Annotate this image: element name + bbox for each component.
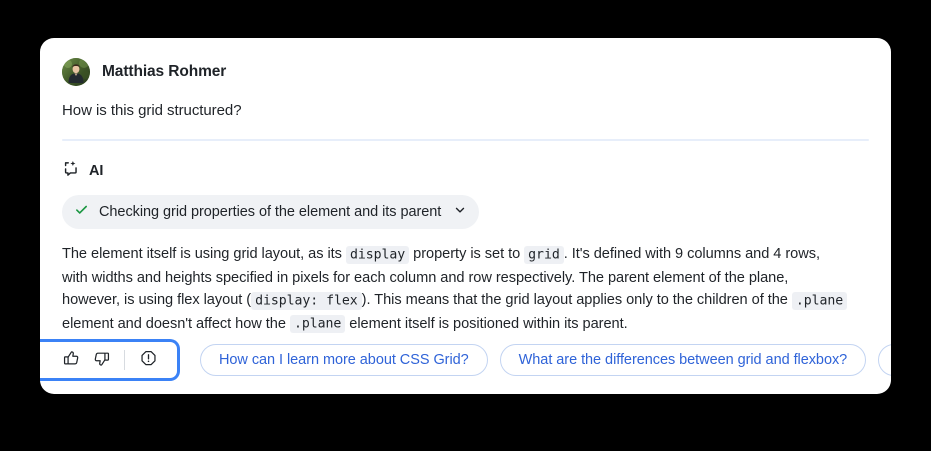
- ai-answer-text: The element itself is using grid layout,…: [40, 229, 870, 336]
- ai-sparkle-icon: [62, 159, 80, 182]
- feedback-divider: [124, 350, 125, 370]
- suggestion-pill-2[interactable]: What are the differences between grid an…: [500, 344, 867, 376]
- answer-segment: property is set to: [409, 246, 524, 262]
- message-action-bar: How can I learn more about CSS Grid? Wha…: [40, 326, 891, 394]
- user-message-header: Matthias Rohmer: [40, 38, 891, 86]
- inline-code-grid: grid: [524, 246, 564, 264]
- inline-code-plane-1: .plane: [792, 292, 847, 310]
- inline-code-display-flex: display: flex: [251, 292, 362, 310]
- chevron-down-icon[interactable]: [453, 203, 467, 222]
- report-button[interactable]: [133, 345, 163, 375]
- user-name: Matthias Rohmer: [102, 63, 226, 81]
- inline-code-display: display: [346, 246, 409, 264]
- status-chip-label: Checking grid properties of the element …: [99, 204, 441, 220]
- suggestion-pill-list: How can I learn more about CSS Grid? Wha…: [200, 344, 891, 376]
- chat-card: Matthias Rohmer How is this grid structu…: [40, 38, 891, 394]
- report-alert-icon: [139, 349, 158, 371]
- thumbs-up-button[interactable]: [56, 345, 86, 375]
- feedback-button-group[interactable]: [40, 339, 180, 381]
- user-question-text: How is this grid structured?: [40, 86, 891, 119]
- answer-segment: ). This means that the grid layout appli…: [362, 292, 792, 308]
- thumbs-down-icon: [92, 349, 111, 371]
- suggestion-pill-3[interactable]: [878, 344, 891, 376]
- status-chip-grid-properties[interactable]: Checking grid properties of the element …: [62, 195, 479, 229]
- thumbs-up-icon: [62, 349, 81, 371]
- ai-message-header: AI: [40, 141, 891, 182]
- thumbs-down-button[interactable]: [86, 345, 116, 375]
- suggestion-pill-1[interactable]: How can I learn more about CSS Grid?: [200, 344, 488, 376]
- avatar: [62, 58, 90, 86]
- check-icon: [74, 202, 89, 222]
- answer-segment: The element itself is using grid layout,…: [62, 246, 346, 262]
- ai-label: AI: [89, 163, 103, 179]
